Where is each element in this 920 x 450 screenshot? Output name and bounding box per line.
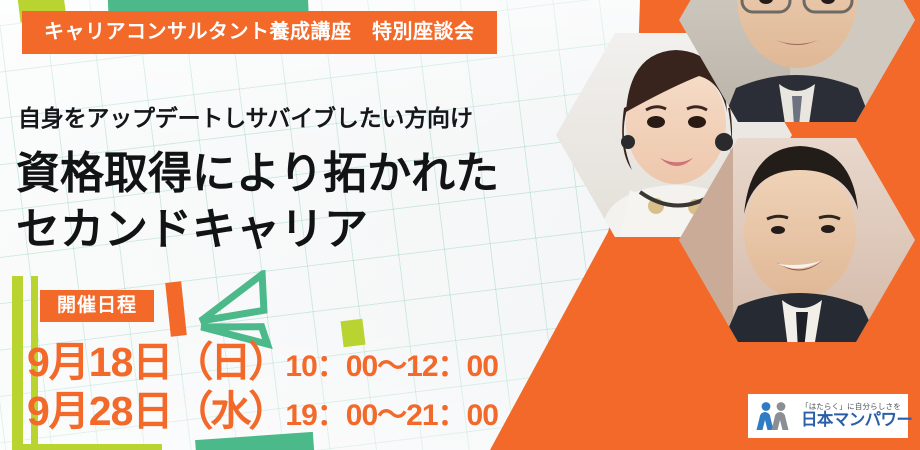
event-category-label: キャリアコンサルタント養成講座 特別座談会 [44, 22, 475, 42]
schedule-list: 9月18日 （日） 10：00〜12：00 9月28日 （水） 19：00〜21… [27, 340, 498, 438]
event-category-ribbon: キャリアコンサルタント養成講座 特別座談会 [22, 11, 497, 54]
company-logo: 「はたらく」に自分らしさを 日本マンパワー [748, 394, 908, 438]
promotional-banner: キャリアコンサルタント養成講座 特別座談会 自身をアップデートしサバイブしたい方… [0, 0, 920, 450]
schedule-time: 10：00〜12：00 [285, 350, 497, 384]
logo-company-name: 日本マンパワー [801, 412, 912, 429]
schedule-date: 9月18日 [27, 340, 172, 386]
schedule-badge: 開催日程 [40, 290, 154, 322]
schedule-time: 19：00〜21：00 [285, 399, 497, 433]
schedule-day-of-week: （日） [172, 340, 286, 386]
logo-text-block: 「はたらく」に自分らしさを 日本マンパワー [801, 403, 912, 430]
schedule-row: 9月28日 （水） 19：00〜21：00 [27, 389, 498, 435]
schedule-date: 9月28日 [27, 389, 172, 435]
decoration-lime-frame-left [12, 276, 23, 450]
logo-tagline: 「はたらく」に自分らしさを [801, 403, 912, 411]
speaker-photo-panel [490, 0, 920, 450]
schedule-day-of-week: （水） [172, 389, 286, 435]
headline-line-1: 資格取得により拓かれた [16, 146, 499, 202]
schedule-badge-label: 開催日程 [57, 296, 137, 315]
schedule-row: 9月18日 （日） 10：00〜12：00 [27, 340, 498, 386]
headline: 資格取得により拓かれた セカンドキャリア [16, 146, 499, 259]
decoration-lime-frame-bottom [12, 444, 162, 450]
headline-line-2: セカンドキャリア [16, 202, 499, 258]
two-people-icon [755, 401, 795, 431]
subheadline: 自身をアップデートしサバイブしたい方向け [18, 99, 473, 133]
